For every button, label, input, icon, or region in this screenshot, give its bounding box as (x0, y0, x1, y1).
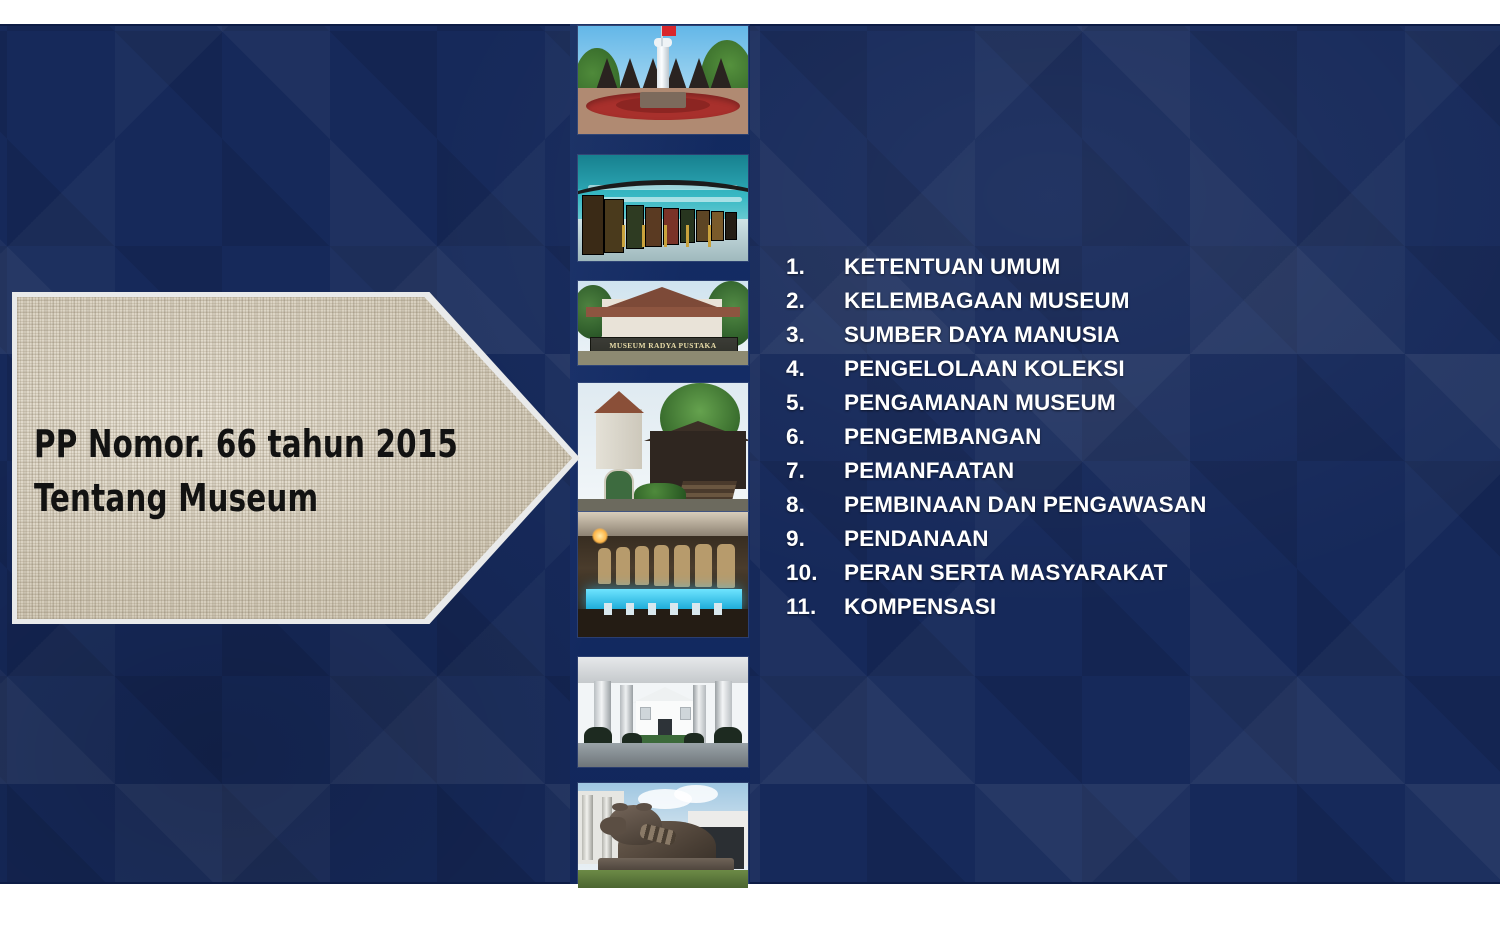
agenda-item-number: 11. (786, 594, 844, 620)
agenda-item-number: 2. (786, 288, 844, 314)
photo-art-gallery-paintings (578, 155, 748, 261)
photo-nandi-bull-statue (578, 783, 748, 888)
agenda-item: 6.PENGEMBANGAN (786, 424, 1426, 458)
agenda-item-label: PENGELOLAAN KOLEKSI (844, 356, 1125, 382)
agenda-item-number: 5. (786, 390, 844, 416)
agenda-item-number: 6. (786, 424, 844, 450)
photo-radya-pustaka-sign: MUSEUM RADYA PUSTAKA SURAKARTA (578, 281, 748, 365)
slide-canvas: MUSEUM RADYA PUSTAKA SURAKARTA (0, 0, 1500, 927)
photo-evolution-exhibit (578, 512, 748, 637)
agenda-item: 8.PEMBINAAN DAN PENGAWASAN (786, 492, 1426, 526)
agenda-item: 10.PERAN SERTA MASYARAKAT (786, 560, 1426, 594)
agenda-item: 7.PEMANFAATAN (786, 458, 1426, 492)
background-top-rule (0, 24, 1500, 26)
agenda-item-label: PENGAMANAN MUSEUM (844, 390, 1116, 416)
agenda-item-number: 10. (786, 560, 844, 586)
agenda-item-label: PERAN SERTA MASYARAKAT (844, 560, 1167, 586)
agenda-item-number: 4. (786, 356, 844, 382)
agenda-item-label: KOMPENSASI (844, 594, 996, 620)
agenda-item: 9.PENDANAAN (786, 526, 1426, 560)
agenda-item-label: KELEMBAGAAN MUSEUM (844, 288, 1130, 314)
photo-strip: MUSEUM RADYA PUSTAKA SURAKARTA (578, 0, 748, 927)
banner-title: PP Nomor. 66 tahun 2015 Tentang Museum (34, 418, 404, 526)
agenda-item: 11.KOMPENSASI (786, 594, 1426, 628)
banner-title-line-1: PP Nomor. 66 tahun 2015 (34, 418, 404, 472)
agenda-item-label: KETENTUAN UMUM (844, 254, 1060, 280)
sign-text-line-1: MUSEUM RADYA PUSTAKA (578, 341, 748, 350)
agenda-item-label: PEMANFAATAN (844, 458, 1014, 484)
agenda-item-number: 8. (786, 492, 844, 518)
agenda-item-number: 1. (786, 254, 844, 280)
agenda-item-number: 7. (786, 458, 844, 484)
agenda-item-label: PEMBINAAN DAN PENGAWASAN (844, 492, 1206, 518)
agenda-item: 3.SUMBER DAYA MANUSIA (786, 322, 1426, 356)
arrow-banner: PP Nomor. 66 tahun 2015 Tentang Museum (12, 292, 580, 624)
agenda-item-label: SUMBER DAYA MANUSIA (844, 322, 1120, 348)
photo-minangkabau-monument (578, 26, 748, 134)
agenda-item: 1.KETENTUAN UMUM (786, 254, 1426, 288)
agenda-item-number: 9. (786, 526, 844, 552)
photo-neoclassical-courtyard (578, 657, 748, 767)
banner-title-line-2: Tentang Museum (34, 472, 404, 526)
agenda-item: 4.PENGELOLAAN KOLEKSI (786, 356, 1426, 390)
agenda-item-number: 3. (786, 322, 844, 348)
background-bottom-rule (0, 882, 1500, 884)
agenda-item: 2.KELEMBAGAAN MUSEUM (786, 288, 1426, 322)
agenda-item-label: PENGEMBANGAN (844, 424, 1041, 450)
agenda-list: 1.KETENTUAN UMUM2.KELEMBAGAAN MUSEUM3.SU… (786, 254, 1426, 628)
photo-museum-complex-tower (578, 383, 748, 511)
agenda-item: 5.PENGAMANAN MUSEUM (786, 390, 1426, 424)
agenda-item-label: PENDANAAN (844, 526, 989, 552)
